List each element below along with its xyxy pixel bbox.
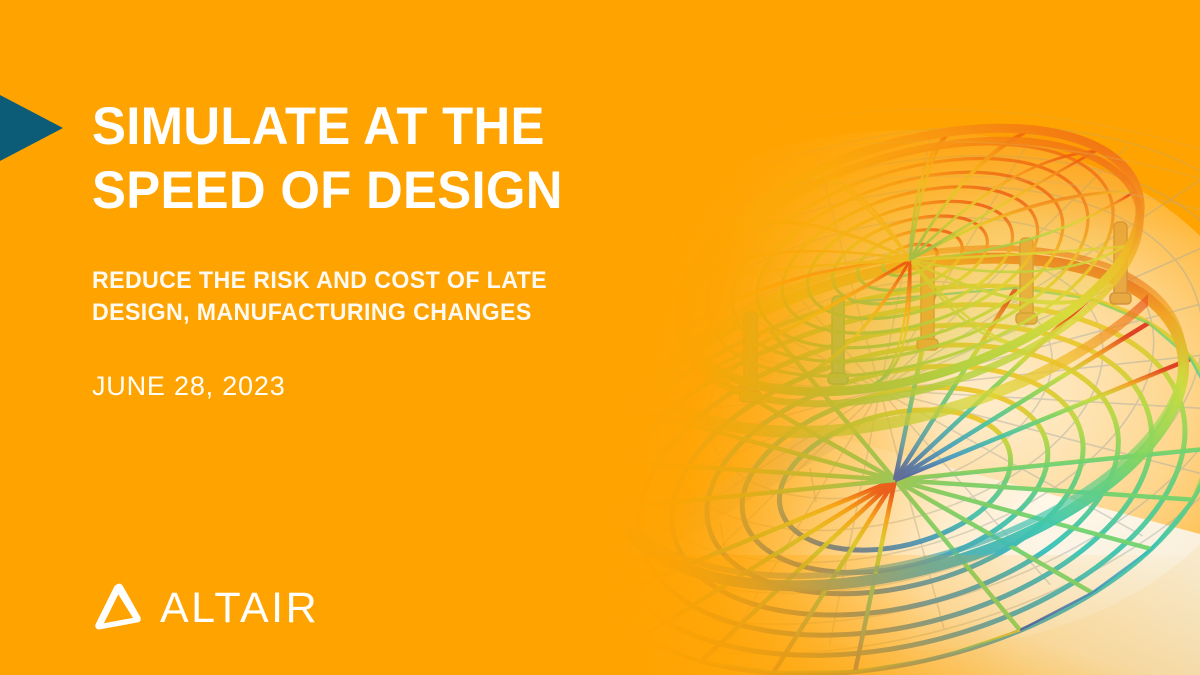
subtitle: REDUCE THE RISK AND COST OF LATE DESIGN,… [92,265,632,329]
simulation-render [560,0,1200,675]
title-slide: SIMULATE AT THE SPEED OF DESIGN REDUCE T… [0,0,1200,675]
page-title: SIMULATE AT THE SPEED OF DESIGN [92,95,630,223]
altair-logo: ALTAIR [92,581,319,635]
text-block: SIMULATE AT THE SPEED OF DESIGN REDUCE T… [92,95,652,403]
accent-triangle-icon [0,95,63,161]
altair-wordmark: ALTAIR [160,587,319,630]
event-date: JUNE 28, 2023 [92,369,652,403]
render-canvas [560,0,1200,675]
altair-triangle-mark-icon [92,581,144,635]
